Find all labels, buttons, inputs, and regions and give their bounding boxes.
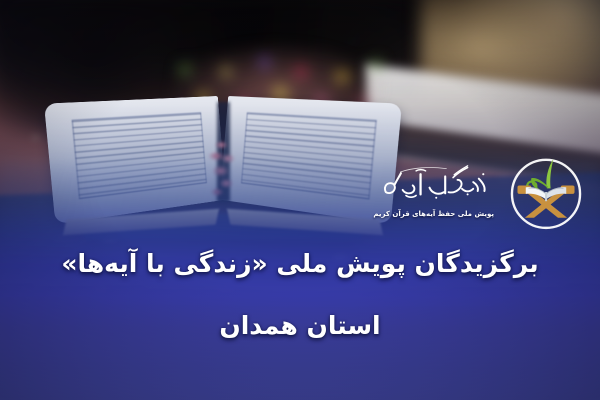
- brand-tagline: پویش ملی حفظ آیه‌های قرآن کریم: [373, 211, 494, 218]
- quran-on-rehl-with-sprout-emblem: [500, 146, 592, 238]
- wordmark-calligraphy-icon: [378, 163, 490, 209]
- campaign-poster: پویش ملی حفظ آیه‌های قرآن کریم برگزیدگان…: [0, 0, 600, 400]
- brand-lockup: پویش ملی حفظ آیه‌های قرآن کریم: [373, 146, 592, 238]
- poster-headline: برگزیدگان پویش ملی «زندگی با آیه‌ها»: [0, 250, 600, 279]
- poster-subline: استان همدان: [0, 312, 600, 341]
- wordmark: پویش ملی حفظ آیه‌های قرآن کریم: [373, 163, 494, 222]
